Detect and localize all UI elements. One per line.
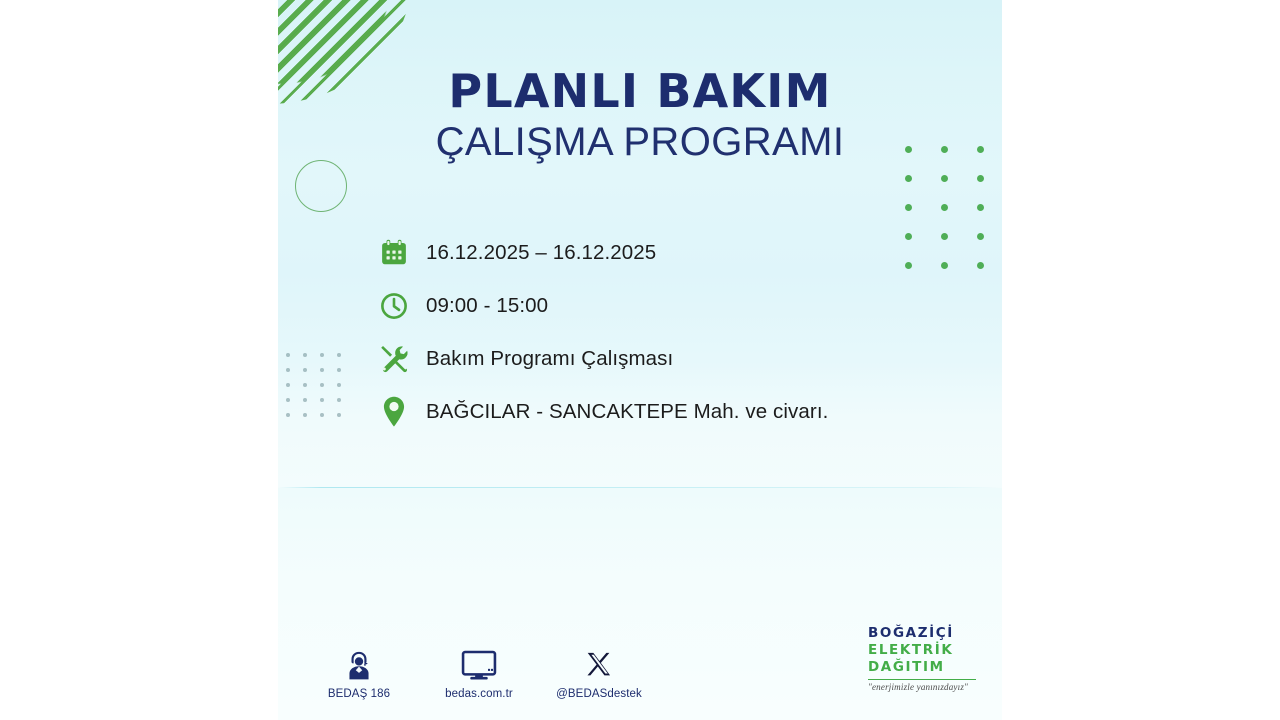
calendar-icon [378,237,410,269]
detail-work-type: Bakım Programı Çalışması [426,347,673,371]
announcement-card: PLANLI BAKIM ÇALIŞMA PROGRAMI [278,0,1002,720]
contact-phone[interactable]: BEDAŞ 186 [312,647,406,700]
title-primary: PLANLI BAKIM [278,68,1002,116]
contact-social-label: @BEDASdestek [556,688,642,700]
contact-website-label: bedas.com.tr [445,688,513,700]
brand-line-elektrik: ELEKTRİK [868,642,980,659]
brand-line-dagitim: DAĞITIM [868,659,980,676]
detail-time-range: 09:00 - 15:00 [426,294,548,318]
brand-tagline: "enerjimizle yanınızdayız" [868,682,980,692]
detail-row-date: 16.12.2025 – 16.12.2025 [378,226,978,279]
monitor-icon [461,647,497,681]
poster-footer: BEDAŞ 186 bedas.com.tr [278,626,1002,706]
contact-phone-label: BEDAŞ 186 [328,688,390,700]
bedas-logo: BOĞAZİÇİ ELEKTRİK DAĞITIM "enerjimizle y… [868,625,980,692]
x-twitter-icon [585,647,613,681]
circle-outline-decoration [295,160,347,212]
maintenance-details-list: 16.12.2025 – 16.12.2025 09:00 - 15:00 [378,226,978,438]
dot-grid-decoration-left [286,353,354,428]
page-title: PLANLI BAKIM ÇALIŞMA PROGRAMI [278,68,1002,167]
poster-canvas: PLANLI BAKIM ÇALIŞMA PROGRAMI [0,0,1280,720]
brand-line-bogazici: BOĞAZİÇİ [868,625,980,642]
detail-date-range: 16.12.2025 – 16.12.2025 [426,241,656,265]
tools-icon [378,343,410,375]
detail-row-worktype: Bakım Programı Çalışması [378,332,978,385]
location-pin-icon [378,396,410,428]
title-secondary: ÇALIŞMA PROGRAMI [278,118,1002,168]
detail-row-location: BAĞCILAR - SANCAKTEPE Mah. ve civarı. [378,385,978,438]
brand-divider [868,679,976,680]
contact-channels: BEDAŞ 186 bedas.com.tr [312,647,646,700]
contact-social[interactable]: @BEDASdestek [552,647,646,700]
detail-row-time: 09:00 - 15:00 [378,279,978,332]
clock-icon [378,290,410,322]
contact-website[interactable]: bedas.com.tr [432,647,526,700]
call-center-agent-icon [344,647,374,681]
detail-location: BAĞCILAR - SANCAKTEPE Mah. ve civarı. [426,400,828,424]
